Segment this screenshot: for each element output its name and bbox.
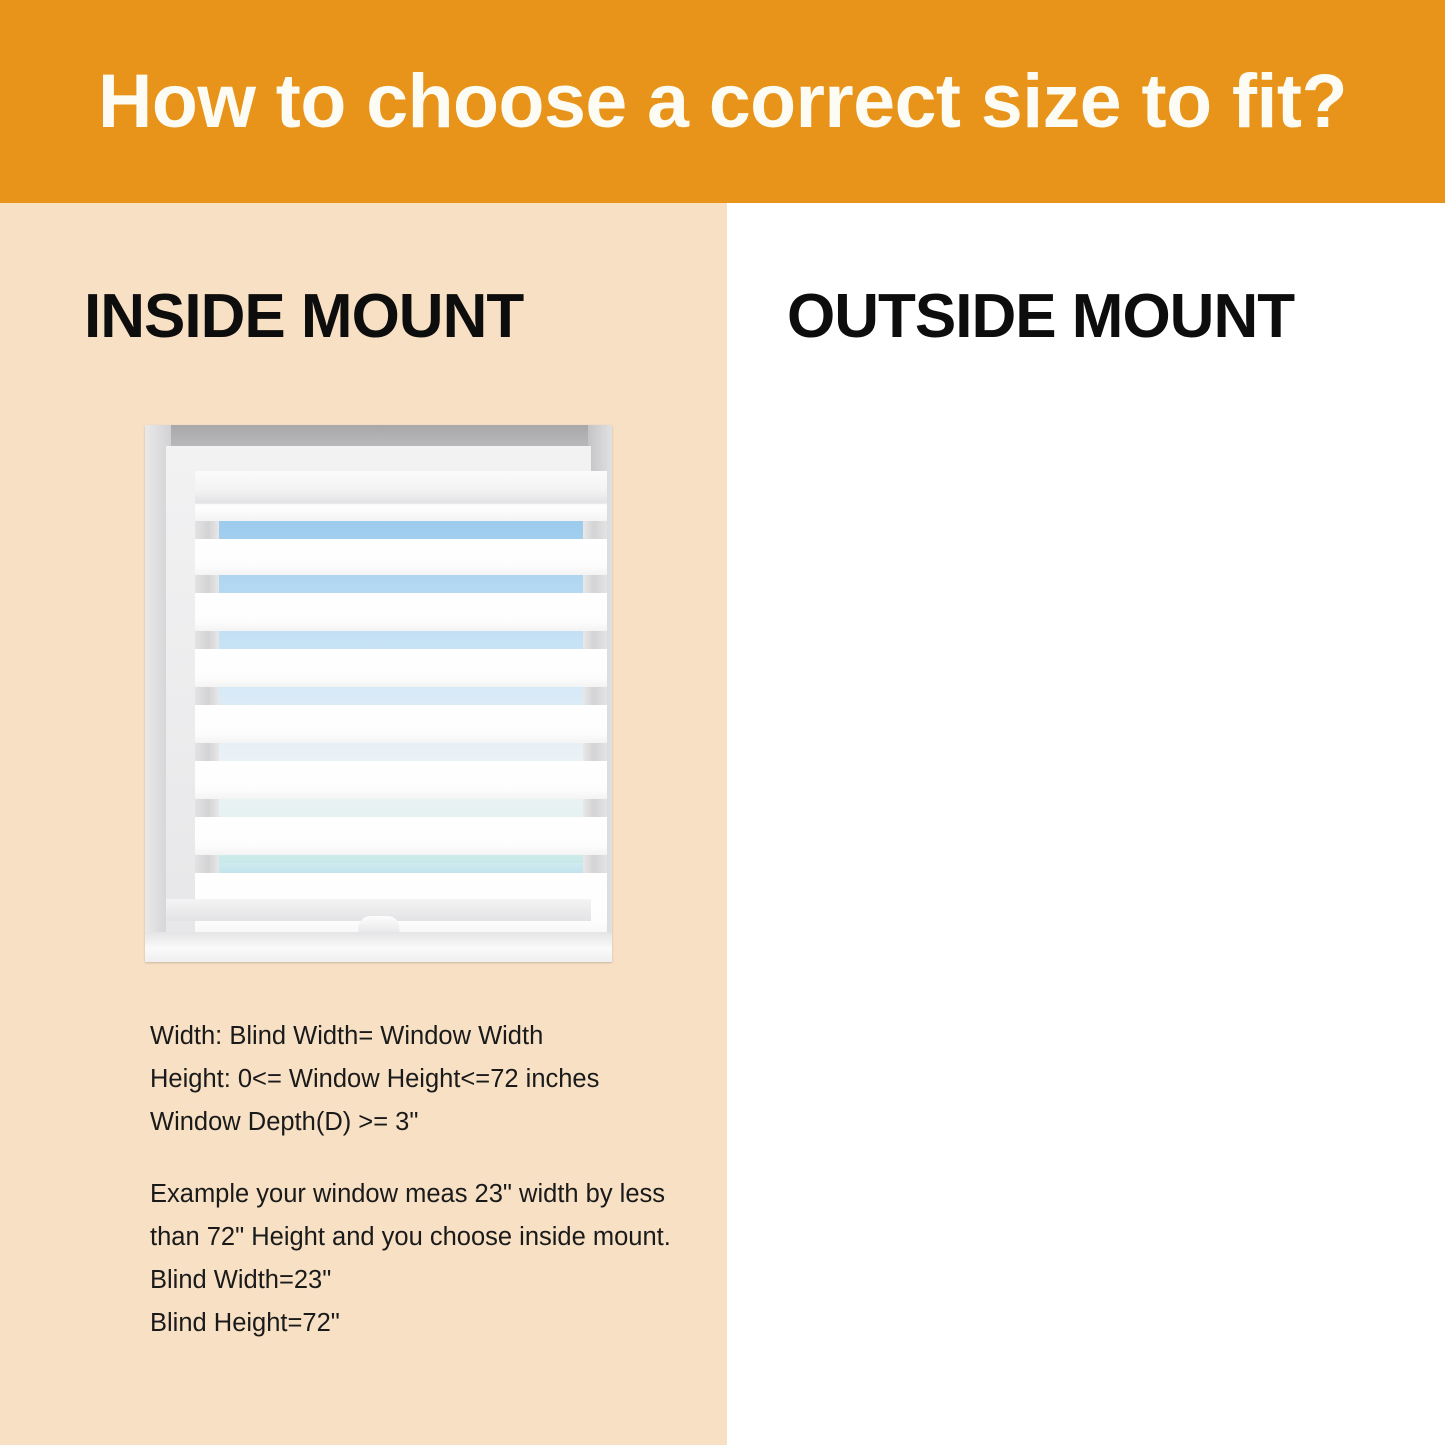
blind-stripe-tab-left bbox=[195, 687, 219, 705]
inside-mount-text: Width: Blind Width= Window Width Height:… bbox=[150, 1015, 710, 1345]
blind-stripe-tab-right bbox=[583, 743, 607, 761]
blind-opaque-band bbox=[195, 593, 607, 631]
blind-stripe-tab-right bbox=[583, 855, 607, 873]
blind-stripe-tab-right bbox=[583, 575, 607, 593]
page-title: How to choose a correct size to fit? bbox=[7, 0, 1438, 203]
inside-spec-line-3: Window Depth(D) >= 3" bbox=[150, 1101, 710, 1144]
outside-mount-panel: OUTSIDE MOUNT bbox=[727, 203, 1445, 1445]
size-guide-infographic: How to choose a correct size to fit? INS… bbox=[0, 0, 1445, 1445]
inside-mount-heading: INSIDE MOUNT bbox=[84, 281, 523, 352]
blind-stripe-tab-left bbox=[195, 575, 219, 593]
blind-stripe-tab-right bbox=[583, 521, 607, 539]
window-frame bbox=[166, 446, 591, 943]
blind-stripe-tab-right bbox=[583, 631, 607, 649]
blind-stripe-tab-left bbox=[195, 631, 219, 649]
text-spacer bbox=[150, 1144, 710, 1173]
blind-opaque-band bbox=[195, 649, 607, 687]
window-sill bbox=[145, 932, 612, 962]
blind-open-stripe bbox=[195, 521, 607, 539]
inside-example-line-3: Blind Height=72" bbox=[150, 1302, 710, 1345]
blind-open-stripe bbox=[195, 855, 607, 873]
blind-opaque-band bbox=[195, 705, 607, 743]
blind-opaque-band bbox=[195, 817, 607, 855]
blind-open-stripe bbox=[195, 575, 607, 593]
inside-spec-line-1: Width: Blind Width= Window Width bbox=[150, 1015, 710, 1058]
blind-open-stripe bbox=[195, 743, 607, 761]
blind-opaque-band bbox=[195, 761, 607, 799]
blind-headrail bbox=[195, 471, 607, 503]
blind-open-stripe bbox=[195, 799, 607, 817]
blind-stripe-tab-left bbox=[195, 743, 219, 761]
blind-stripe-tab-right bbox=[583, 799, 607, 817]
inside-example-line-1: Example your window meas 23" width by le… bbox=[150, 1173, 710, 1259]
header-banner: How to choose a correct size to fit? bbox=[0, 0, 1445, 203]
blind-open-stripe bbox=[195, 687, 607, 705]
blind-open-stripe bbox=[195, 631, 607, 649]
blind-stripe-tab-left bbox=[195, 855, 219, 873]
inside-mount-window-illustration bbox=[145, 425, 612, 962]
blind-opaque-band bbox=[195, 539, 607, 575]
inside-example-line-2: Blind Width=23" bbox=[150, 1259, 710, 1302]
window-glass-with-blind bbox=[195, 471, 607, 938]
blind-stripe-tab-right bbox=[583, 687, 607, 705]
blind-stripe-tab-left bbox=[195, 799, 219, 817]
inside-spec-line-2: Height: 0<= Window Height<=72 inches bbox=[150, 1058, 710, 1101]
inside-mount-panel: INSIDE MOUNT bbox=[0, 203, 727, 1445]
blind-handle[interactable] bbox=[359, 916, 399, 933]
comparison-panels: INSIDE MOUNT bbox=[0, 203, 1445, 1445]
blind-stripe-tab-left bbox=[195, 521, 219, 539]
outside-mount-heading: OUTSIDE MOUNT bbox=[787, 281, 1294, 352]
